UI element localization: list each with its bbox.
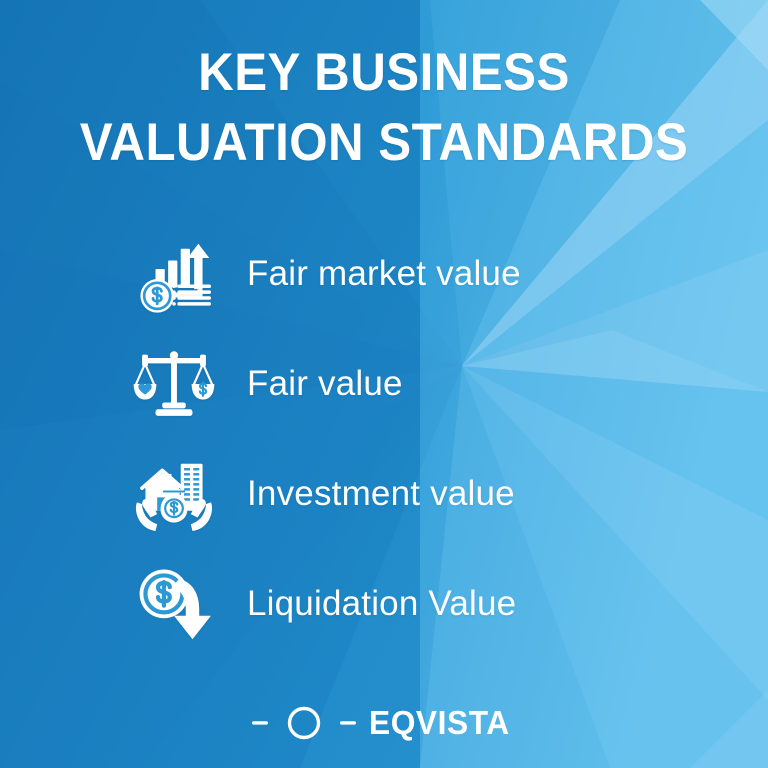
infographic-canvas: KEY BUSINESS VALUATION STANDARDS [0, 0, 768, 768]
logo-wordmark: EQVISTA [369, 704, 510, 742]
bar-chart-growth-money-icon [130, 230, 218, 318]
brand-logo[interactable]: EQVISTA [0, 704, 768, 742]
standards-list: Fair market value [0, 219, 768, 659]
title-line-2: VALUATION STANDARDS [27, 108, 741, 178]
dollar-coin-down-arrow-icon [130, 560, 218, 648]
page-title: KEY BUSINESS VALUATION STANDARDS [0, 38, 768, 179]
standard-label: Fair value [247, 366, 403, 401]
standard-label: Liquidation Value [247, 586, 516, 621]
standard-label: Fair market value [247, 256, 521, 291]
standard-row: Investment value [0, 439, 768, 549]
standard-row: Liquidation Value [0, 549, 768, 659]
balance-scales-icon [130, 340, 218, 428]
dash-circle-dash-icon [252, 705, 356, 741]
standard-row: Fair value [0, 329, 768, 439]
standard-row: Fair market value [0, 219, 768, 329]
standard-label: Investment value [247, 476, 515, 511]
hands-holding-money-bag-property-icon [130, 450, 218, 538]
title-line-1: KEY BUSINESS [27, 38, 741, 108]
